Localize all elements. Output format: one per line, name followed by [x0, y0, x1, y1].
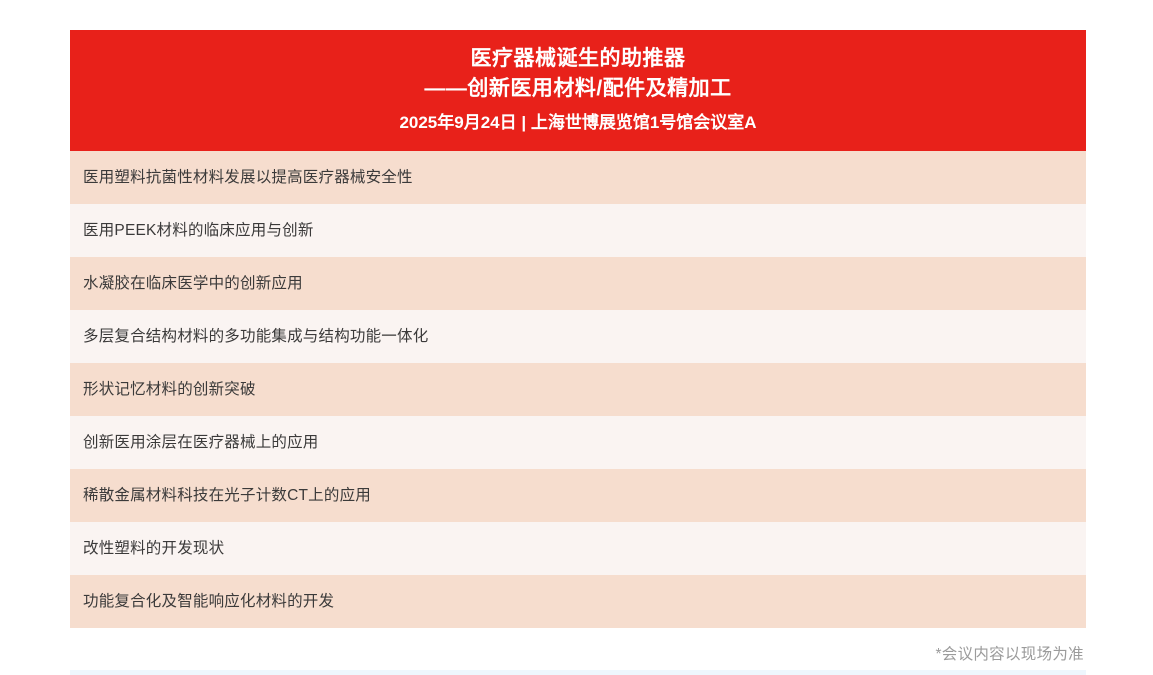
- list-item[interactable]: 创新医用涂层在医疗器械上的应用: [70, 416, 1086, 469]
- list-item[interactable]: 医用PEEK材料的临床应用与创新: [70, 204, 1086, 257]
- list-item[interactable]: 稀散金属材料科技在光子计数CT上的应用: [70, 469, 1086, 522]
- list-item[interactable]: 多层复合结构材料的多功能集成与结构功能一体化: [70, 310, 1086, 363]
- event-subtitle: ——创新医用材料/配件及精加工: [90, 74, 1066, 104]
- event-title: 医疗器械诞生的助推器: [90, 44, 1066, 74]
- list-item[interactable]: 功能复合化及智能响应化材料的开发: [70, 575, 1086, 628]
- list-item[interactable]: 改性塑料的开发现状: [70, 522, 1086, 575]
- list-item[interactable]: 形状记忆材料的创新突破: [70, 363, 1086, 416]
- bottom-accent-strip: [70, 670, 1086, 675]
- agenda-container: 医疗器械诞生的助推器 ——创新医用材料/配件及精加工 2025年9月24日 | …: [70, 30, 1086, 664]
- topic-label: 功能复合化及智能响应化材料的开发: [83, 592, 334, 612]
- topic-label: 多层复合结构材料的多功能集成与结构功能一体化: [83, 327, 428, 347]
- agenda-page: 医疗器械诞生的助推器 ——创新医用材料/配件及精加工 2025年9月24日 | …: [0, 0, 1153, 675]
- topic-label: 形状记忆材料的创新突破: [83, 380, 256, 400]
- topic-label: 医用塑料抗菌性材料发展以提高医疗器械安全性: [83, 168, 413, 188]
- list-item[interactable]: 医用塑料抗菌性材料发展以提高医疗器械安全性: [70, 151, 1086, 204]
- footnote-bar: *会议内容以现场为准: [70, 628, 1086, 664]
- topic-label: 稀散金属材料科技在光子计数CT上的应用: [83, 486, 371, 506]
- topic-label: 改性塑料的开发现状: [83, 539, 224, 559]
- event-header-banner: 医疗器械诞生的助推器 ——创新医用材料/配件及精加工 2025年9月24日 | …: [70, 30, 1086, 151]
- topic-label: 创新医用涂层在医疗器械上的应用: [83, 433, 319, 453]
- list-item[interactable]: 水凝胶在临床医学中的创新应用: [70, 257, 1086, 310]
- topic-label: 水凝胶在临床医学中的创新应用: [83, 274, 303, 294]
- event-date-venue: 2025年9月24日 | 上海世博展览馆1号馆会议室A: [90, 111, 1066, 136]
- topic-label: 医用PEEK材料的临床应用与创新: [83, 221, 314, 241]
- topic-list: 医用塑料抗菌性材料发展以提高医疗器械安全性 医用PEEK材料的临床应用与创新 水…: [70, 151, 1086, 628]
- disclaimer-note: *会议内容以现场为准: [935, 646, 1084, 663]
